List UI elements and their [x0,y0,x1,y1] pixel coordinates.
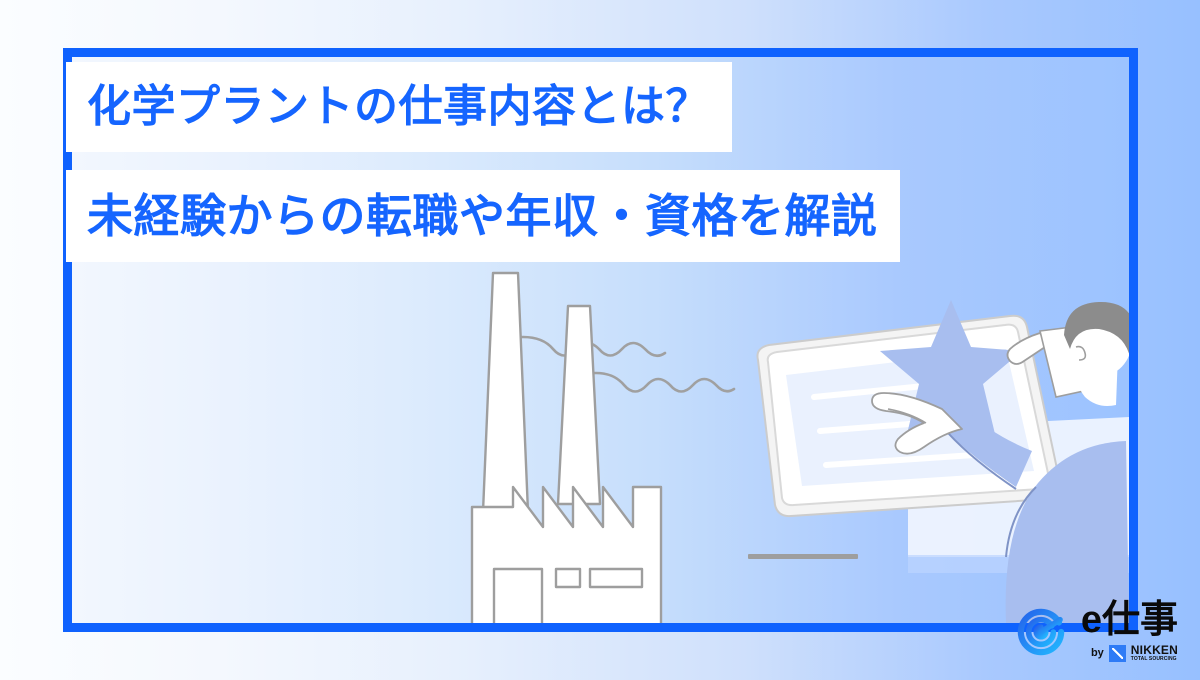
nikken-tagline: TOTAL SOURCING [1131,657,1178,662]
brand-logo-lockup[interactable]: e仕事 by NIKKEN TOTAL SOURCING [1013,601,1178,662]
title-line-2: 未経験からの転職や年収・資格を解説 [66,170,900,262]
smoke-waves-icon [501,337,734,429]
cover-canvas: 化学プラントの仕事内容とは？ 未経験からの転職や年収・資格を解説 e仕事 by [0,0,1200,680]
desk-surface [908,555,1129,573]
title-block: 化学プラントの仕事内容とは？ 未経験からの転職や年収・資格を解説 [66,62,900,262]
tablet-device [757,316,1060,516]
tablet-text-lines [814,384,974,465]
logo-by-label: by [1091,648,1104,659]
nikken-brand-name: NIKKEN [1131,644,1178,656]
factory-icon [472,273,661,623]
logo-wordmark: e仕事 [1081,601,1178,639]
logo-byline: by NIKKEN TOTAL SOURCING [1091,644,1178,662]
nikken-badge-icon [1109,645,1126,662]
wall-panel [908,417,1129,557]
title-line-1: 化学プラントの仕事内容とは？ [66,62,732,152]
person-pointing [872,302,1129,623]
e-shigoto-swirl-mark-icon [1013,604,1069,660]
star-icon [880,300,1022,434]
